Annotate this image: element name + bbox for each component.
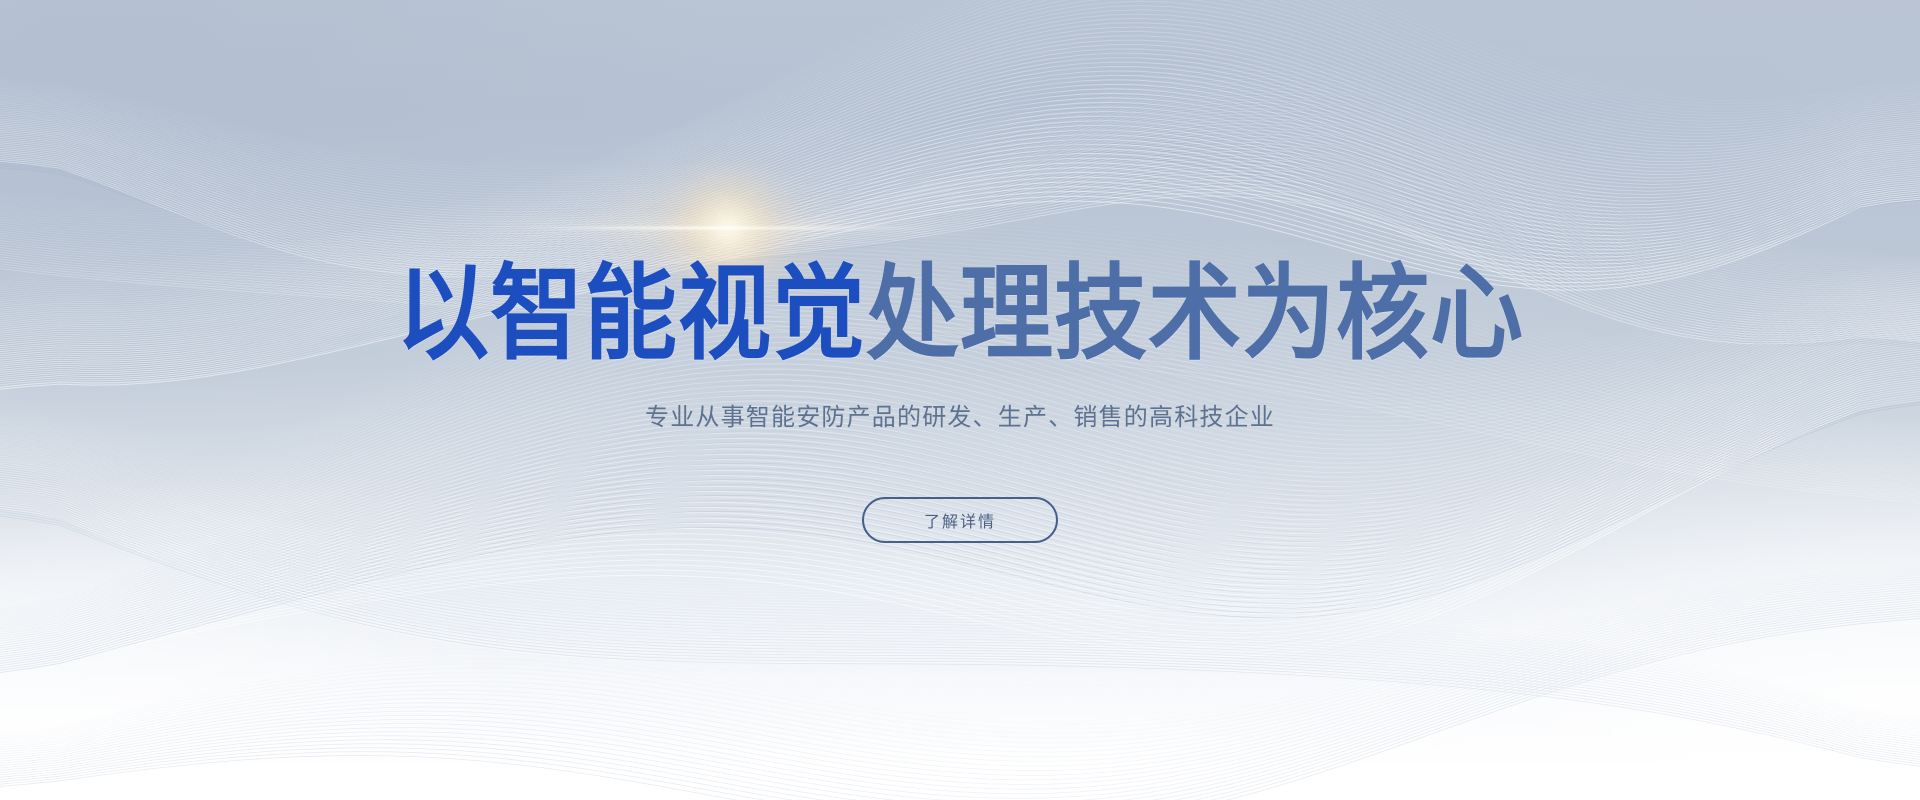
headline-segment-primary: 以智能视觉	[396, 253, 866, 374]
headline-segment-secondary: 处理技术为核心	[866, 253, 1524, 374]
hero-content: 以智能视觉处理技术为核心 专业从事智能安防产品的研发、生产、销售的高科技企业 了…	[0, 0, 1920, 800]
hero-subtitle: 专业从事智能安防产品的研发、生产、销售的高科技企业	[645, 401, 1275, 435]
hero-banner: 以智能视觉处理技术为核心 专业从事智能安防产品的研发、生产、销售的高科技企业 了…	[0, 0, 1920, 800]
learn-more-button[interactable]: 了解详情	[862, 497, 1058, 543]
hero-headline: 以智能视觉处理技术为核心	[396, 262, 1524, 366]
